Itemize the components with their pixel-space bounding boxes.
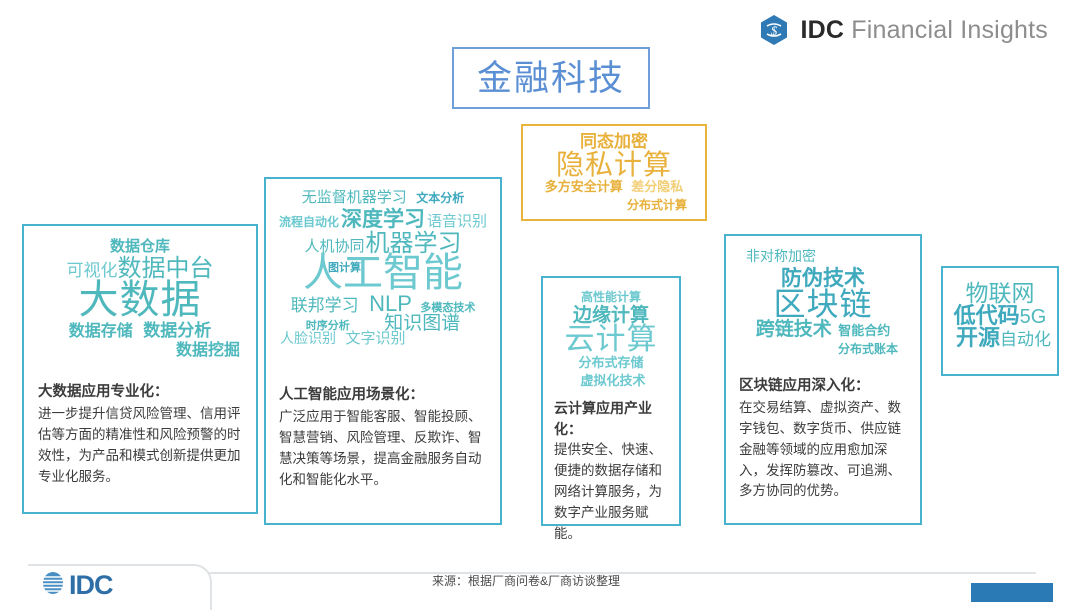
card-body-heading: 区块链应用深入化： xyxy=(739,376,907,398)
cloud-term: 人工智能 xyxy=(303,253,463,295)
wordcloud-blockchain: 非对称加密 防伪技术 区块链 跨链技术 智能合约 分布式账本 xyxy=(726,236,920,372)
card-blockchain[interactable]: 非对称加密 防伪技术 区块链 跨链技术 智能合约 分布式账本 区块链应用深入化：… xyxy=(724,234,922,525)
cloud-term: 智能合约 xyxy=(838,324,890,338)
cloud-term: 跨链技术 xyxy=(756,320,832,340)
wordcloud-iot: 物联网 低代码5G 开源自动化 xyxy=(943,268,1057,350)
cloud-term: 人脸识别 xyxy=(280,331,336,346)
card-body-heading: 人工智能应用场景化： xyxy=(279,385,487,407)
card-body-text: 在交易结算、虚拟资产、数字钱包、数字货币、供应链金融等领域的应用愈加深入，发挥防… xyxy=(739,398,907,503)
footer-idc-logo: IDC xyxy=(42,570,113,601)
footer-logo-text: IDC xyxy=(69,572,113,599)
cloud-term: 大数据 xyxy=(79,280,202,322)
source-note: 来源：根据厂商问卷&厂商访谈整理 xyxy=(432,572,620,589)
footer-corner-accent xyxy=(971,583,1053,602)
wordcloud-ai: 无监督机器学习 文本分析 流程自动化深度学习语音识别 人机协同机器学习 人工智能… xyxy=(266,179,500,381)
card-body-heading: 云计算应用产业化： xyxy=(554,398,668,440)
page-title-box: 金融科技 xyxy=(452,47,650,109)
cloud-term: NLP xyxy=(369,293,412,316)
cloud-term: 文本分析 xyxy=(416,192,464,204)
brand-rest: Financial Insights xyxy=(844,16,1048,44)
cloud-term: 流程自动化 xyxy=(279,216,339,228)
brand-title: IDC Financial Insights xyxy=(800,16,1048,45)
brand-header: $ IDC Financial Insights xyxy=(759,14,1048,46)
card-body-heading: 大数据应用专业化： xyxy=(38,382,242,404)
wordcloud-bigdata: 数据仓库 可视化数据中台 大数据 数据存储 数据分析 数据挖掘 xyxy=(24,226,256,378)
cloud-term: 分布式存储 xyxy=(578,356,643,370)
cloud-term: 数据存储 xyxy=(69,324,133,341)
cloud-term: 高性能计算 xyxy=(581,291,641,303)
cloud-term: 虚拟化技术 xyxy=(580,374,645,388)
card-ai[interactable]: 无监督机器学习 文本分析 流程自动化深度学习语音识别 人机协同机器学习 人工智能… xyxy=(264,177,502,525)
cloud-term: 数据挖掘 xyxy=(176,343,240,360)
page-title: 金融科技 xyxy=(477,61,625,96)
card-bigdata[interactable]: 数据仓库 可视化数据中台 大数据 数据存储 数据分析 数据挖掘 大数据应用专业化… xyxy=(22,224,258,514)
wordcloud-cloud: 高性能计算 边缘计算 云计算 分布式存储 虚拟化技术 xyxy=(543,278,679,392)
cloud-term: 5G xyxy=(1020,307,1047,328)
idc-hexagon-logo-icon: $ xyxy=(759,14,789,46)
cloud-term: 区块链 xyxy=(773,288,872,321)
card-cloud-computing[interactable]: 高性能计算 边缘计算 云计算 分布式存储 虚拟化技术 云计算应用产业化： 提供安… xyxy=(541,276,681,526)
cloud-term: 数据分析 xyxy=(143,322,211,340)
slide-canvas: $ IDC Financial Insights 金融科技 数据仓库 可视化数据… xyxy=(0,0,1080,608)
cloud-term: 隐私计算 xyxy=(556,150,672,179)
cloud-term: 深度学习 xyxy=(341,209,425,231)
card-body-text: 进一步提升信贷风险管理、信用评估等方面的精准性和风险预警的时效性，为产品和模式创… xyxy=(38,404,242,488)
wordcloud-privacy: 同态加密 隐私计算 多方安全计算 差分隐私 分布式计算 xyxy=(523,126,705,214)
cloud-term: 差分隐私 xyxy=(631,180,683,194)
cloud-term: 多方安全计算 xyxy=(545,180,623,194)
cloud-term: 分布式计算 xyxy=(627,199,687,211)
card-body-text: 提供安全、快速、便捷的数据存储和网络计算服务，为数字产业服务赋能。 xyxy=(554,440,668,545)
card-body-text: 广泛应用于智能客服、智能投顾、智慧营销、风险管理、反欺诈、智慧决策等场景，提高金… xyxy=(279,407,487,491)
cloud-term: 云计算 xyxy=(565,324,658,355)
cloud-term: 开源 xyxy=(956,327,1000,350)
brand-bold: IDC xyxy=(800,16,844,44)
cloud-term: 语音识别 xyxy=(427,214,487,230)
cloud-term: 非对称加密 xyxy=(746,249,816,264)
cloud-term: 分布式账本 xyxy=(838,343,898,355)
idc-globe-logo-icon xyxy=(42,570,66,601)
card-privacy-computing[interactable]: 同态加密 隐私计算 多方安全计算 差分隐私 分布式计算 xyxy=(521,124,707,221)
cloud-term: 文字识别 xyxy=(345,331,405,347)
cloud-term: 无监督机器学习 xyxy=(302,190,407,206)
cloud-term: 图计算 xyxy=(328,263,361,274)
card-iot[interactable]: 物联网 低代码5G 开源自动化 xyxy=(941,266,1059,376)
cloud-term: 数据仓库 xyxy=(110,239,170,255)
cloud-term: 联邦学习 xyxy=(291,297,359,315)
cloud-term: 自动化 xyxy=(1000,331,1051,349)
